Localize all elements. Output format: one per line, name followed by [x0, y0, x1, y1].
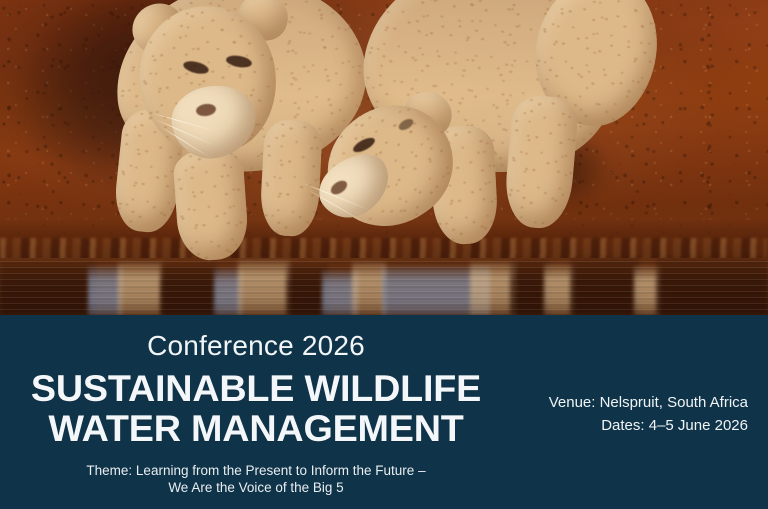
poster-title-line-2: WATER MANAGEMENT [0, 409, 517, 449]
venue-line: Venue: Nelspruit, South Africa [448, 392, 748, 415]
conference-kicker: Conference 2026 [0, 315, 512, 360]
title-block: Conference 2026 SUSTAINABLE WILDLIFE WAT… [0, 315, 512, 509]
water-reflection-cub [352, 262, 386, 315]
event-details: Venue: Nelspruit, South Africa Dates: 4–… [448, 315, 748, 509]
water-reflection-dark [160, 264, 218, 315]
water-reflection-cub [238, 260, 290, 315]
poster-title-line-1: SUSTAINABLE WILDLIFE [0, 360, 517, 409]
dates-line: Dates: 4–5 June 2026 [448, 415, 748, 438]
conference-poster: Conference 2026 SUSTAINABLE WILDLIFE WAT… [0, 0, 768, 509]
water-reflection-dark [570, 258, 640, 315]
water-reflection-dark [0, 262, 96, 315]
poster-theme: Theme: Learning from the Present to Info… [0, 449, 512, 497]
hero-photo-lion-cubs-waterhole [0, 0, 768, 315]
poster-theme-line-2: We Are the Voice of the Big 5 [168, 480, 343, 495]
water-reflection-dark [656, 258, 768, 315]
water-reflection-sky [88, 266, 122, 315]
title-band: Conference 2026 SUSTAINABLE WILDLIFE WAT… [0, 315, 768, 509]
water-reflection-cub [118, 262, 162, 315]
poster-theme-line-1: Theme: Learning from the Present to Info… [86, 463, 425, 478]
